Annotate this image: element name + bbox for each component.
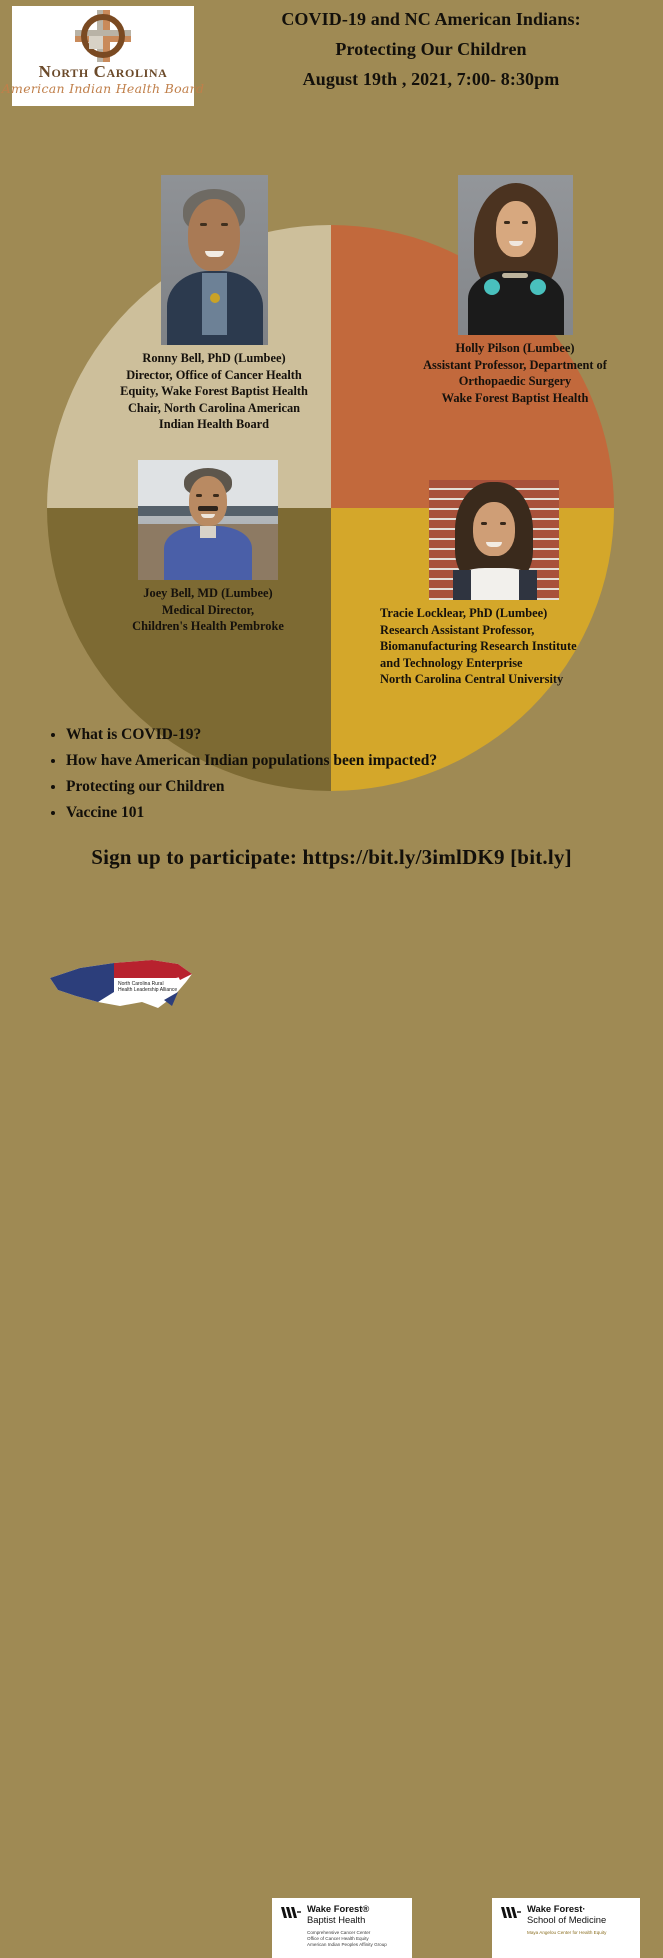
speaker-joey-bell: Joey Bell, MD (Lumbee) Medical Director,…	[63, 460, 353, 635]
poster-header: North Carolina American Indian Health Bo…	[0, 0, 663, 118]
speaker-line: Wake Forest Baptist Health	[380, 390, 650, 407]
speaker-caption-ronny-bell: Ronny Bell, PhD (Lumbee) Director, Offic…	[64, 350, 364, 433]
wf-baptist-sub-line: American Indian Peoples Affinity Group	[307, 1942, 404, 1948]
wf-baptist-name-line1: Wake Forest®	[307, 1904, 369, 1915]
agenda-item: What is COVID-19?	[66, 722, 644, 748]
medicine-wheel-icon	[65, 10, 141, 62]
speaker-line: Joey Bell, MD (Lumbee)	[63, 585, 353, 602]
speaker-holly-pilson: Holly Pilson (Lumbee) Assistant Professo…	[380, 175, 650, 406]
agenda-item: How have American Indian populations bee…	[66, 748, 644, 774]
speaker-line: Ronny Bell, PhD (Lumbee)	[64, 350, 364, 367]
speaker-line: Medical Director,	[63, 602, 353, 619]
speaker-photo-joey-bell	[138, 460, 278, 580]
speaker-line: Biomanufacturing Research Institute	[380, 638, 646, 655]
speaker-photo-ronny-bell	[161, 175, 268, 345]
wake-forest-baptist-health-logo: Wake Forest® Baptist Health Comprehensiv…	[272, 1898, 412, 1958]
speaker-line: Assistant Professor, Department of	[380, 357, 650, 374]
speaker-line: North Carolina Central University	[380, 671, 646, 688]
logo-org-subtitle: American Indian Health Board	[2, 83, 205, 96]
poster-footer: North Carolina Rural Health Leadership A…	[0, 940, 663, 1024]
title-line-3: August 19th , 2021, 7:00- 8:30pm	[205, 64, 657, 94]
speaker-caption-tracie-locklear: Tracie Locklear, PhD (Lumbee) Research A…	[366, 605, 646, 688]
speaker-line: Orthopaedic Surgery	[380, 373, 650, 390]
speaker-tracie-locklear: Tracie Locklear, PhD (Lumbee) Research A…	[366, 480, 646, 688]
speaker-line: Children's Health Pembroke	[63, 618, 353, 635]
north-carolina-map-logo: North Carolina Rural Health Leadership A…	[46, 952, 196, 1016]
speaker-line: Chair, North Carolina American	[64, 400, 364, 417]
wf-medicine-sub-line: Maya Angelou Center for Health Equity	[527, 1930, 632, 1936]
wake-forest-chevron-icon	[280, 1906, 302, 1919]
logo-org-name: North Carolina	[39, 63, 168, 80]
signup-link[interactable]: Sign up to participate: https://bit.ly/3…	[0, 845, 663, 870]
wf-medicine-name-line2: School of Medicine	[527, 1915, 606, 1926]
nc-map-caption-line2: Health Leadership Alliance	[118, 987, 177, 993]
wf-baptist-name-line2: Baptist Health	[307, 1915, 369, 1926]
speaker-photo-holly-pilson	[458, 175, 573, 335]
speaker-line: and Technology Enterprise	[380, 655, 646, 672]
wf-medicine-name-line1: Wake Forest·	[527, 1904, 606, 1915]
speaker-line: Research Assistant Professor,	[380, 622, 646, 639]
speaker-line: Indian Health Board	[64, 416, 364, 433]
speaker-line: Director, Office of Cancer Health	[64, 367, 364, 384]
agenda-item: Vaccine 101	[66, 800, 644, 826]
wake-forest-school-of-medicine-logo: Wake Forest· School of Medicine Maya Ang…	[492, 1898, 640, 1958]
speaker-photo-tracie-locklear	[429, 480, 559, 600]
title-line-2: Protecting Our Children	[205, 34, 657, 64]
organization-logo: North Carolina American Indian Health Bo…	[12, 6, 194, 106]
speaker-caption-holly-pilson: Holly Pilson (Lumbee) Assistant Professo…	[380, 340, 650, 406]
agenda-list: What is COVID-19? How have American Indi…	[44, 722, 644, 826]
wake-forest-chevron-icon	[500, 1906, 522, 1919]
poster-title: COVID-19 and NC American Indians: Protec…	[205, 4, 657, 94]
agenda-item: Protecting our Children	[66, 774, 644, 800]
speaker-line: Holly Pilson (Lumbee)	[380, 340, 650, 357]
speaker-line: Equity, Wake Forest Baptist Health	[64, 383, 364, 400]
title-line-1: COVID-19 and NC American Indians:	[205, 4, 657, 34]
speaker-line: Tracie Locklear, PhD (Lumbee)	[380, 605, 646, 622]
speaker-caption-joey-bell: Joey Bell, MD (Lumbee) Medical Director,…	[63, 585, 353, 635]
speaker-ronny-bell: Ronny Bell, PhD (Lumbee) Director, Offic…	[64, 175, 364, 433]
